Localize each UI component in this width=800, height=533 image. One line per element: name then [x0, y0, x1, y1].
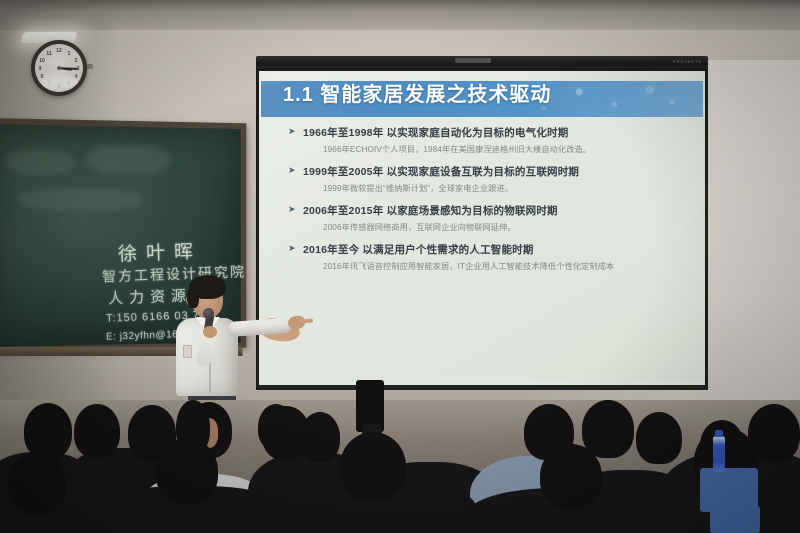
chalk-smudge [18, 188, 143, 210]
clock-numeral: 8 [41, 74, 44, 80]
presenter-mic-hand [203, 326, 217, 338]
clock-numeral: 7 [48, 81, 51, 87]
clock-numeral: 10 [39, 58, 45, 64]
slide-title: 1.1 智能家居发展之技术驱动 [283, 78, 551, 107]
housing-brand-label: PROJECTA [673, 59, 702, 64]
bullet-main-label: 1999年至2005年 以实现家庭设备互联为目标的互联网时期 [303, 166, 579, 178]
chalk-smudge [86, 144, 171, 174]
audience-head [300, 412, 340, 462]
blackboard-line-name: 徐叶晖 [118, 237, 203, 267]
wall-clock: 12 1 2 3 4 5 6 7 8 9 10 11 [31, 40, 87, 96]
clock-face: 12 1 2 3 4 5 6 7 8 9 10 11 [35, 44, 83, 92]
audience-head-front [156, 438, 218, 504]
clock-numeral: 2 [75, 58, 78, 64]
bullet-sub-text: 2016年讯飞语音控制应用智能家居，IT企业用人工智能技术降低个性化定制成本 [259, 260, 705, 272]
bullet-arrow-icon: ➤ [288, 128, 297, 135]
slide-bullet-block: ➤ 2006年至2015年 以家庭场景感知为目标的物联网时期 2006年传感器网… [259, 203, 705, 233]
slide-bullet-block: ➤ 1999年至2005年 以实现家庭设备互联为目标的互联网时期 1999年微软… [259, 164, 705, 194]
bullet-main-text: ➤ 2006年至2015年 以家庭场景感知为目标的物联网时期 [259, 203, 705, 218]
bullet-main-label: 2006年至2015年 以家庭场景感知为目标的物联网时期 [303, 205, 558, 217]
audience-head [24, 403, 72, 459]
clock-numeral: 1 [68, 51, 71, 57]
clock-numeral: 5 [68, 81, 71, 87]
audience-head [74, 404, 120, 458]
audience-head-front [340, 432, 406, 500]
clock-numeral: 6 [58, 84, 61, 90]
slide-bullet-list: ➤ 1966年至1998年 以实现家庭自动化为目标的电气化时期 1966年ECH… [259, 125, 705, 281]
clock-mount-peg [86, 64, 93, 69]
bullet-sub-text: 2006年传感器网络商用，互联网企业向物联网延伸。 [259, 221, 705, 233]
projection-screen: 1.1 智能家居发展之技术驱动 ➤ 1966年至1998年 以实现家庭自动化为目… [259, 71, 705, 387]
presenter-badge [183, 345, 192, 358]
audience-chair-lower [710, 506, 760, 533]
audience-head-front [540, 444, 602, 508]
bullet-main-label: 1966年至1998年 以实现家庭自动化为目标的电气化时期 [303, 127, 568, 139]
bullet-sub-text: 1966年ECHOIV个人项目，1984年在美国康涅迪格州旧大楼自动化改造。 [259, 143, 705, 155]
bullet-main-label: 2016年至今 以满足用户个性需求的人工智能时期 [303, 244, 534, 256]
screen-pull-tab [455, 58, 491, 63]
water-bottle-cap [715, 430, 723, 437]
water-bottle [713, 436, 725, 472]
clock-numeral: 12 [56, 48, 62, 54]
bullet-arrow-icon: ➤ [288, 167, 297, 174]
audience-head [582, 400, 634, 458]
audience-head-front [8, 452, 66, 514]
screen-lower-edge [259, 385, 705, 390]
ceiling-shadow [0, 0, 800, 14]
clock-numeral: 9 [39, 66, 42, 72]
bullet-sub-text: 1999年微软提出“维纳斯计划”，全球家电企业跟进。 [259, 182, 705, 194]
bullet-arrow-icon: ➤ [288, 245, 297, 252]
audience-head [636, 412, 682, 464]
bullet-main-text: ➤ 2016年至今 以满足用户个性需求的人工智能时期 [259, 242, 705, 257]
clock-center-pin [57, 66, 61, 70]
presenter-hair-side [187, 286, 199, 308]
clock-numeral: 11 [46, 51, 51, 57]
lecture-hall-photo: 12 1 2 3 4 5 6 7 8 9 10 11 徐叶晖 智方工程设计研究院… [0, 0, 800, 533]
clock-numeral: 4 [75, 74, 78, 80]
blackboard-line-dept: 人力资源 [108, 285, 193, 309]
audience-head [258, 404, 294, 450]
bullet-main-text: ➤ 1999年至2005年 以实现家庭设备互联为目标的互联网时期 [259, 164, 705, 179]
slide-bullet-block: ➤ 2016年至今 以满足用户个性需求的人工智能时期 2016年讯飞语音控制应用… [259, 242, 705, 272]
bullet-main-text: ➤ 1966年至1998年 以实现家庭自动化为目标的电气化时期 [259, 125, 705, 140]
bullet-arrow-icon: ➤ [288, 206, 297, 213]
presentation-slide: 1.1 智能家居发展之技术驱动 ➤ 1966年至1998年 以实现家庭自动化为目… [259, 71, 705, 381]
chalk-smudge [6, 148, 74, 175]
slide-bullet-block: ➤ 1966年至1998年 以实现家庭自动化为目标的电气化时期 1966年ECH… [259, 125, 705, 155]
